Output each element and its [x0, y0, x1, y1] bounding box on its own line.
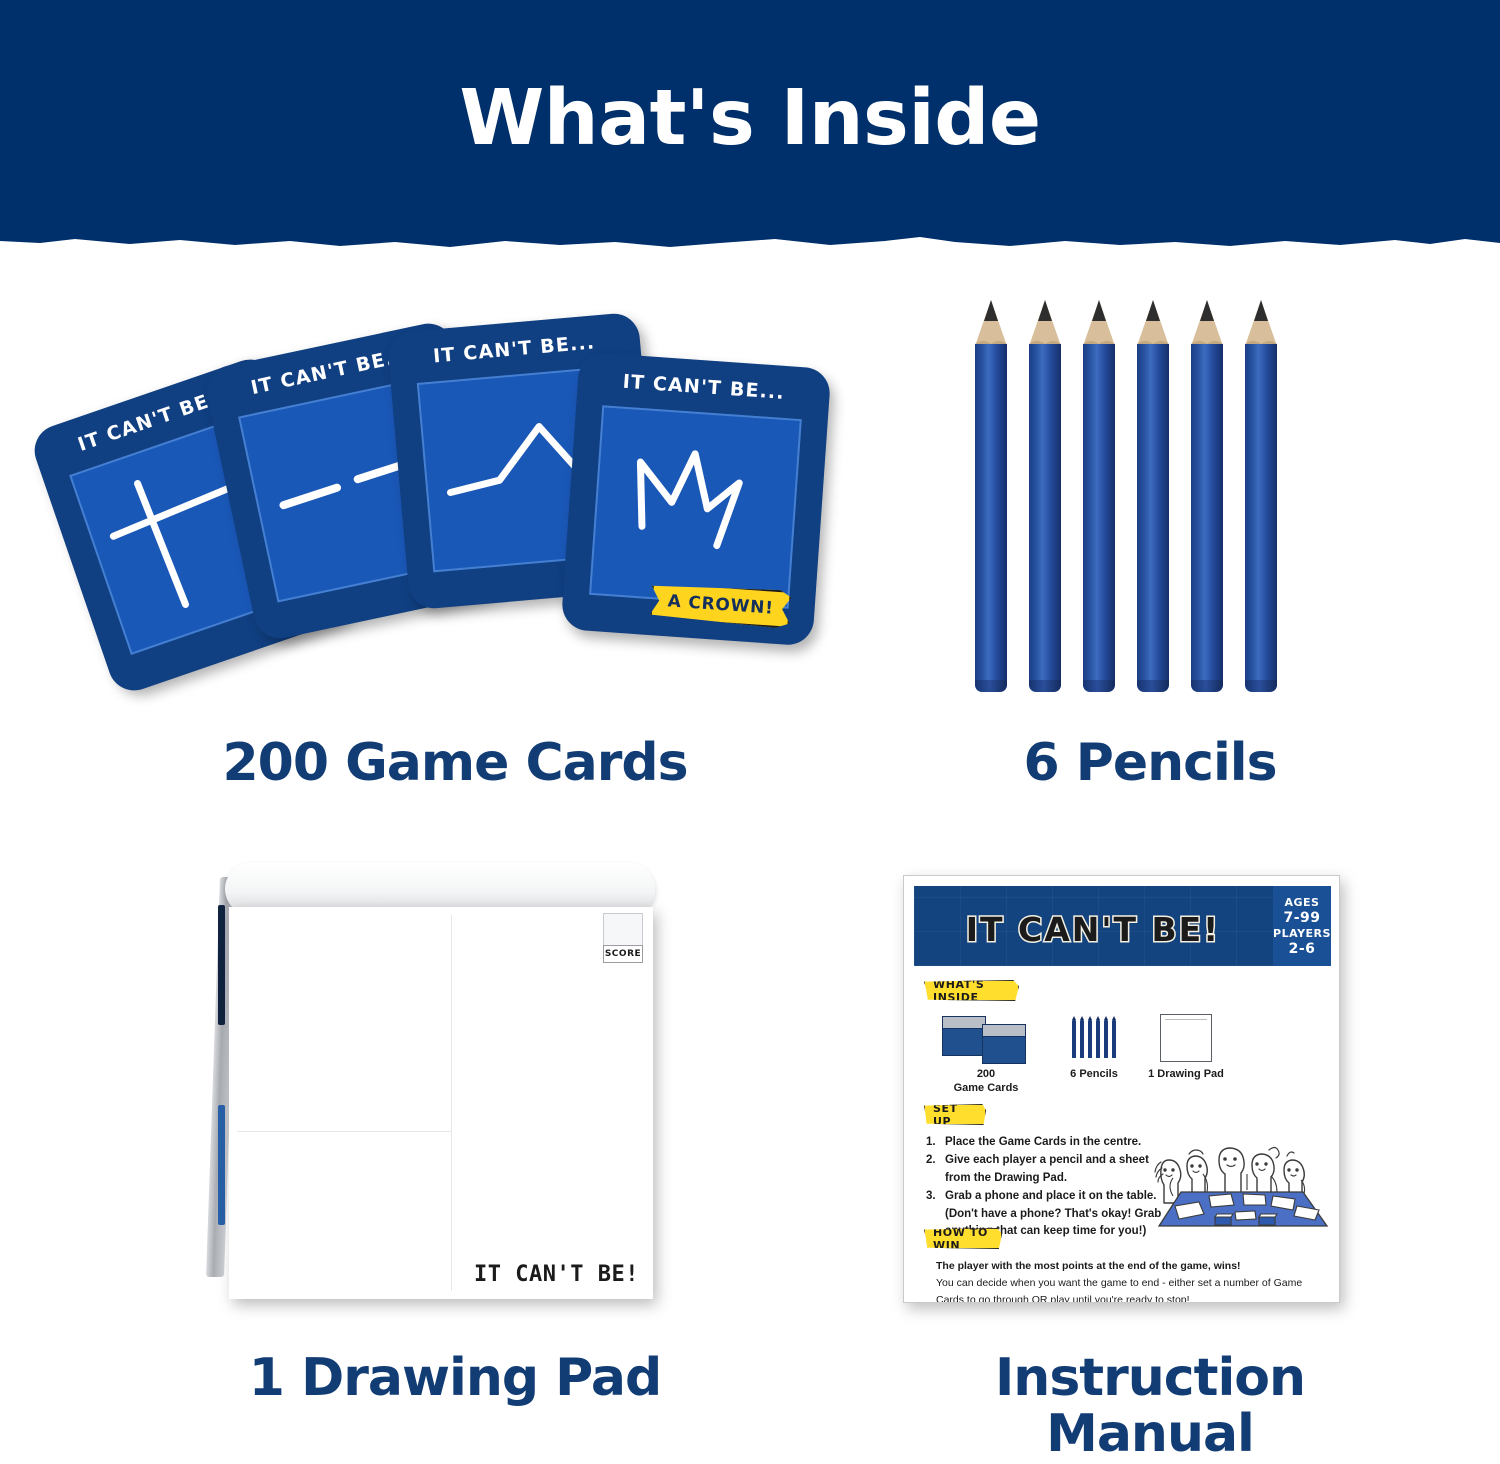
manual-pencil-5 [1104, 1020, 1108, 1058]
step-number: 1. [926, 1134, 939, 1151]
how-to-win-lead: The player with the most points at the e… [936, 1258, 1328, 1275]
manual-pad-icon [1160, 1014, 1212, 1062]
caption-drawing-pad: 1 Drawing Pad [60, 1350, 850, 1406]
pad-spine-dark-strip [218, 905, 225, 1025]
manual-setup-steps: 1. Place the Game Cards in the centre. 2… [926, 1134, 1176, 1242]
manual-pencil-2 [1080, 1020, 1084, 1058]
tag-set-up: SET UP [924, 1104, 986, 1125]
page-header: What's Inside [0, 0, 1500, 252]
pencil-tip-icon [975, 300, 1007, 346]
pencil-4 [1137, 300, 1169, 692]
pad-sheet: SCORE IT CAN'T BE! [229, 907, 653, 1299]
manual-logo: IT CAN'T BE! [914, 910, 1272, 949]
pencil-tip-icon [1029, 300, 1061, 346]
pencil-1 [975, 300, 1007, 692]
pencil-5 [1191, 300, 1223, 692]
tag-how-to-win: HOW TO WIN [924, 1228, 1002, 1249]
instruction-manual-illustration: IT CAN'T BE! AGES 7-99 PLAYERS 2-6 WHAT'… [903, 875, 1340, 1303]
drawing-pad-illustration: SCORE IT CAN'T BE! [205, 855, 675, 1325]
pad-spine-blue-strip [218, 1105, 225, 1225]
pad-divider-horizontal [237, 1131, 451, 1132]
deck-body [983, 1037, 1025, 1063]
manual-pencil-1 [1072, 1020, 1076, 1058]
pad-divider-vertical [451, 915, 452, 1291]
manual-item-label: 1 Drawing Pad [1126, 1068, 1246, 1082]
caption-manual-line1: Instruction [860, 1350, 1440, 1406]
caption-manual-line2: Manual [860, 1406, 1440, 1462]
step-text: Give each player a pencil and a sheet fr… [945, 1152, 1176, 1187]
card-prompt-label: IT CAN'T BE... [577, 368, 830, 408]
caption-instruction-manual: Instruction Manual [860, 1350, 1440, 1462]
crown-drawing-icon [589, 405, 802, 608]
pencil-body [1191, 344, 1223, 692]
deck-body [943, 1029, 985, 1055]
game-card-crown: IT CAN'T BE... A CROWN! [561, 352, 832, 647]
manual-pencil-6 [1112, 1020, 1116, 1058]
ages-label: AGES [1273, 896, 1331, 909]
manual-how-to-win-text: The player with the most points at the e… [936, 1258, 1328, 1303]
pencil-tip-icon [1191, 300, 1223, 346]
pad-icon-line [1165, 1019, 1207, 1020]
manual-item-line1: 200 [926, 1068, 1046, 1082]
how-to-win-body: You can decide when you want the game to… [936, 1275, 1328, 1303]
tag-whats-inside: WHAT'S INSIDE [924, 980, 1019, 1001]
ages-value: 7-99 [1273, 910, 1331, 926]
caption-pencils: 6 Pencils [860, 735, 1440, 791]
pad-logo: IT CAN'T BE! [474, 1262, 639, 1287]
pencil-3 [1083, 300, 1115, 692]
players-around-table-illustration [1151, 1122, 1331, 1232]
manual-item-label: 200 Game Cards [926, 1068, 1046, 1096]
card-deck-box-2 [982, 1024, 1026, 1064]
step-number: 2. [926, 1152, 939, 1187]
manual-item-line2: Game Cards [926, 1082, 1046, 1096]
card-deck-box-1 [942, 1016, 986, 1056]
pencil-2 [1029, 300, 1061, 692]
setup-step: 1. Place the Game Cards in the centre. [926, 1134, 1176, 1151]
players-label: PLAYERS [1273, 927, 1331, 940]
pencil-body [1137, 344, 1169, 692]
players-value: 2-6 [1273, 941, 1331, 957]
manual-contents-row: 200 Game Cards 6 Pencils 1 Drawing Pad [926, 1010, 1226, 1094]
caption-game-cards: 200 Game Cards [60, 735, 850, 791]
pencil-body [975, 344, 1007, 692]
setup-step: 2. Give each player a pencil and a sheet… [926, 1152, 1176, 1187]
page-title: What's Inside [0, 74, 1500, 163]
pencil-body [1245, 344, 1277, 692]
manual-pencil-4 [1096, 1020, 1100, 1058]
step-text: Place the Game Cards in the centre. [945, 1134, 1141, 1151]
manual-header-band: IT CAN'T BE! AGES 7-99 PLAYERS 2-6 [914, 886, 1331, 966]
pencil-body [1029, 344, 1061, 692]
ages-players-panel: AGES 7-99 PLAYERS 2-6 [1273, 886, 1331, 966]
manual-pencil-3 [1088, 1020, 1092, 1058]
pencil-tip-icon [1083, 300, 1115, 346]
pencil-6 [1245, 300, 1277, 692]
pencil-body [1083, 344, 1115, 692]
pencil-tip-icon [1137, 300, 1169, 346]
pencil-tip-icon [1245, 300, 1277, 346]
score-label: SCORE [603, 945, 643, 963]
torn-edge-decoration [0, 236, 1500, 252]
deck-lid [943, 1017, 985, 1029]
deck-lid [983, 1025, 1025, 1037]
pencils-illustration [975, 300, 1275, 700]
game-cards-illustration: IT CAN'T BE... IT CAN'T BE... IT CAN'T B… [50, 300, 870, 720]
